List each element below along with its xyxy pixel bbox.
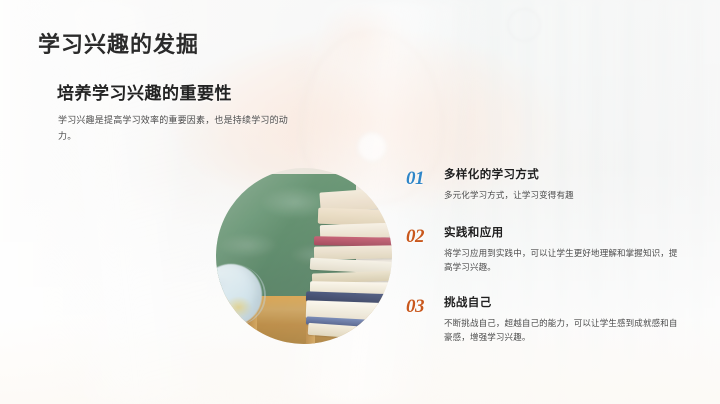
point-number: 01 — [406, 168, 436, 190]
point-number: 02 — [406, 226, 436, 248]
page-title: 学习兴趣的发掘 — [38, 27, 199, 59]
point-description: 将学习应用到实践中，可以让学生更好地理解和掌握知识，提高学习兴趣。 — [444, 246, 684, 274]
point-title: 挑战自己 — [444, 294, 706, 310]
point-title: 实践和应用 — [444, 224, 706, 240]
circular-photo — [216, 168, 392, 344]
section-description: 学习兴趣是提高学习效率的重要因素，也是持续学习的动力。 — [58, 112, 290, 144]
list-item: 02 实践和应用 将学习应用到实践中，可以让学生更好地理解和掌握知识，提高学习兴… — [406, 224, 706, 274]
list-item: 01 多样化的学习方式 多元化学习方式，让学习变得有趣 — [406, 166, 706, 202]
photo-veil — [216, 168, 392, 344]
point-description: 不断挑战自己，超越自己的能力，可以让学生感到成就感和自豪感，增强学习兴趣。 — [444, 316, 684, 344]
list-item: 03 挑战自己 不断挑战自己，超越自己的能力，可以让学生感到成就感和自豪感，增强… — [406, 294, 706, 344]
presentation-slide: 学习兴趣的发掘 培养学习兴趣的重要性 学习兴趣是提高学习效率的重要因素，也是持续… — [0, 0, 720, 404]
points-list: 01 多样化的学习方式 多元化学习方式，让学习变得有趣 02 实践和应用 将学习… — [406, 166, 706, 360]
point-number: 03 — [406, 296, 436, 318]
point-title: 多样化的学习方式 — [444, 166, 706, 182]
section-heading: 培养学习兴趣的重要性 — [57, 79, 232, 104]
point-description: 多元化学习方式，让学习变得有趣 — [444, 188, 684, 202]
